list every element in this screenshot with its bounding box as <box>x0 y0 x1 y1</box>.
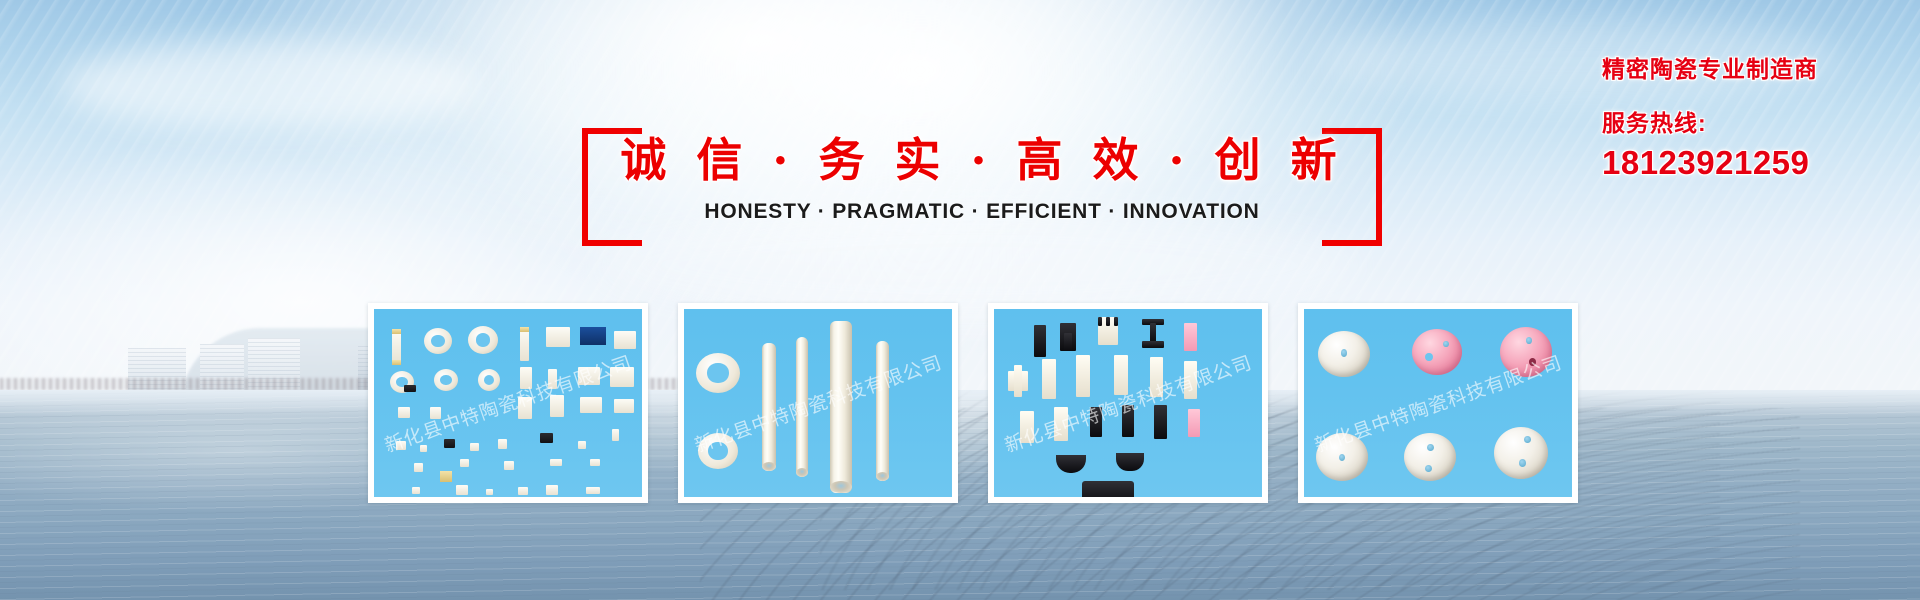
panel-ceramic-discs[interactable]: 新化县中特陶瓷科技有限公司 <box>1298 303 1578 503</box>
panel-reflection <box>678 509 958 600</box>
ceramic-tube <box>830 321 852 493</box>
panel-reflection <box>368 509 648 600</box>
ceramic-disc <box>1318 331 1370 377</box>
panel-reflection <box>988 509 1268 600</box>
panel-watermark: 新化县中特陶瓷科技有限公司 <box>1001 348 1256 458</box>
panel-image: 新化县中特陶瓷科技有限公司 <box>994 309 1262 497</box>
panel-image: 新化县中特陶瓷科技有限公司 <box>374 309 642 497</box>
product-panel-row: 新化县中特陶瓷科技有限公司 <box>0 0 1920 600</box>
panel-reflection <box>1298 509 1578 600</box>
ceramic-ring <box>696 353 740 393</box>
panel-ceramic-tubes-rings[interactable]: 新化县中特陶瓷科技有限公司 <box>678 303 958 503</box>
ceramic-ring <box>698 433 738 469</box>
panel-image: 新化县中特陶瓷科技有限公司 <box>1304 309 1572 497</box>
ceramic-disc <box>1404 433 1456 481</box>
ceramic-tube <box>762 343 776 471</box>
ceramic-tube <box>796 337 808 477</box>
ceramic-disc <box>1412 329 1462 375</box>
panel-ceramic-blocks[interactable]: 新化县中特陶瓷科技有限公司 <box>988 303 1268 503</box>
panel-smd-ceramic-components[interactable]: 新化县中特陶瓷科技有限公司 <box>368 303 648 503</box>
ceramic-disc <box>1494 427 1548 479</box>
hero-banner: 诚 信 · 务 实 · 高 效 · 创 新 HONESTY · PRAGMATI… <box>0 0 1920 600</box>
ceramic-tube <box>876 341 889 481</box>
ceramic-disc <box>1500 327 1552 377</box>
ceramic-disc <box>1316 433 1368 481</box>
panel-image: 新化县中特陶瓷科技有限公司 <box>684 309 952 497</box>
